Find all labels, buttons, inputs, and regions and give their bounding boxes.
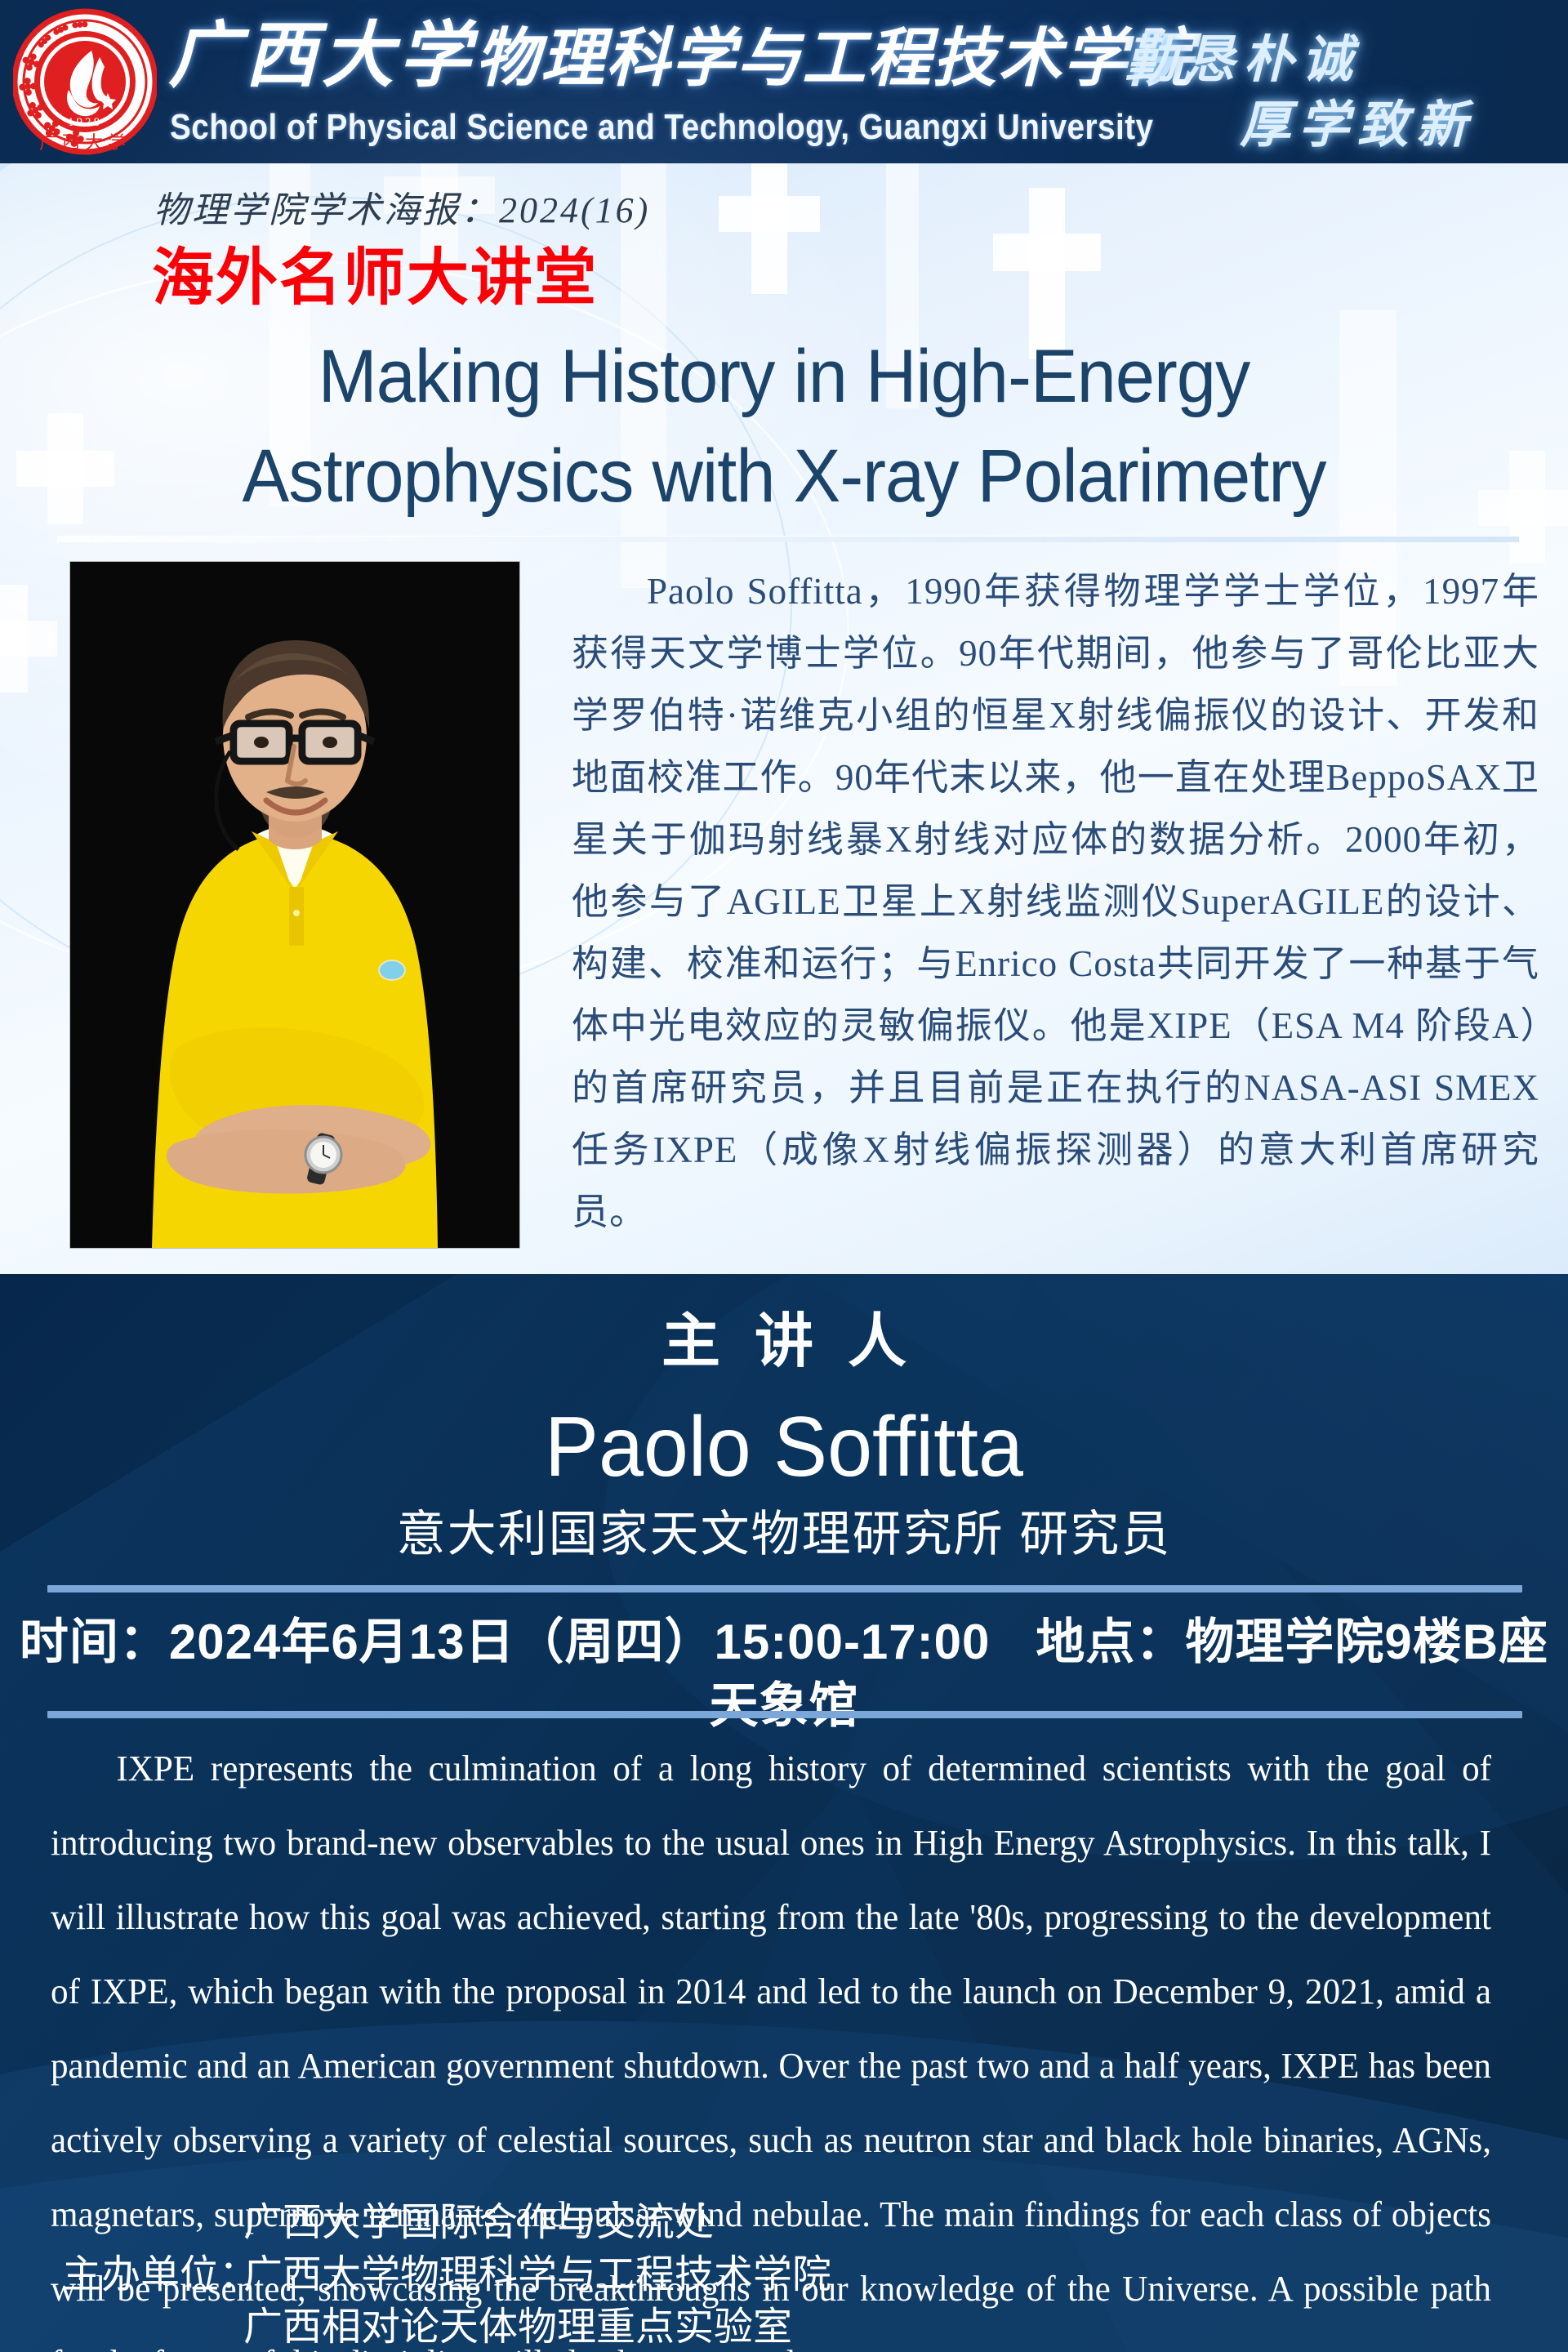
organizer-item: 广西相对论天体物理重点实验室 xyxy=(243,2301,1142,2352)
time-and-place: 时间：2024年6月13日（周四）15:00-17:00地点：物理学院9楼B座天… xyxy=(0,1610,1568,1738)
speaker-affiliation: 意大利国家天文物理研究所 研究员 xyxy=(0,1504,1568,1565)
organizer-item: 广西大学物理科学与工程技术学院 xyxy=(243,2249,1142,2301)
talk-title-line-2: Astrophysics with X-ray Polarimetry xyxy=(93,426,1475,526)
header-university-name: 广西大学 xyxy=(168,17,475,96)
decor-cross-4b xyxy=(47,413,83,524)
motto-line-2: 厚学致新 xyxy=(1240,83,1475,157)
speaker-photo xyxy=(70,562,519,1248)
talk-title-line-1: Making History in High-Energy xyxy=(93,327,1475,426)
header-school-name: 物理科学与工程技术学院 xyxy=(475,23,1194,94)
time-value: 2024年6月13日（周四）15:00-17:00 xyxy=(169,1615,990,1669)
seal-university-name: 广西大学 xyxy=(39,132,131,153)
speaker-name: Paolo Soffitta xyxy=(39,1393,1529,1501)
university-motto: 勤恳朴诚 厚学致新 xyxy=(1120,11,1545,158)
decor-cross-5b xyxy=(0,585,28,693)
time-label: 时间： xyxy=(20,1615,169,1669)
lecture-series-title: 海外名师大讲堂 xyxy=(152,243,598,314)
poster-number: 物理学院学术海报：2024(16) xyxy=(154,189,650,232)
decor-cross-2b xyxy=(993,234,1101,271)
organizer-item: 广西大学国际合作与交流处 xyxy=(243,2197,1142,2249)
speaker-biography: Paolo Soffitta，1990年获得物理学学士学位，1997年获得天文学… xyxy=(572,560,1539,1243)
seal-year: 1928 xyxy=(68,116,102,129)
speaker-label: 主讲人 xyxy=(0,1307,1568,1377)
info-divider-bottom xyxy=(47,1711,1522,1718)
organizer-label: 主办单位： xyxy=(62,2249,258,2301)
decor-cross-1b xyxy=(719,196,820,232)
title-divider xyxy=(57,536,1519,542)
organizer-list: 广西大学国际合作与交流处 广西大学物理科学与工程技术学院 广西相对论天体物理重点… xyxy=(243,2197,1142,2352)
header-english-title: School of Physical Science and Technolog… xyxy=(170,105,1154,150)
talk-title: Making History in High-Energy Astrophysi… xyxy=(93,327,1475,526)
info-divider-top xyxy=(47,1585,1522,1592)
header-chinese-title: 广西大学物理科学与工程技术学院 xyxy=(168,18,1194,98)
university-seal-icon: 1928 广西大学 xyxy=(13,5,157,158)
poster-header: 1928 广西大学 广西大学物理科学与工程技术学院 School of Phys… xyxy=(0,0,1568,163)
place-label: 地点： xyxy=(1036,1615,1185,1669)
motto-line-1: 勤恳朴诚 xyxy=(1125,18,1361,91)
decor-cross-6b xyxy=(1509,451,1545,563)
academic-poster: 1928 广西大学 广西大学物理科学与工程技术学院 School of Phys… xyxy=(0,0,1568,2352)
